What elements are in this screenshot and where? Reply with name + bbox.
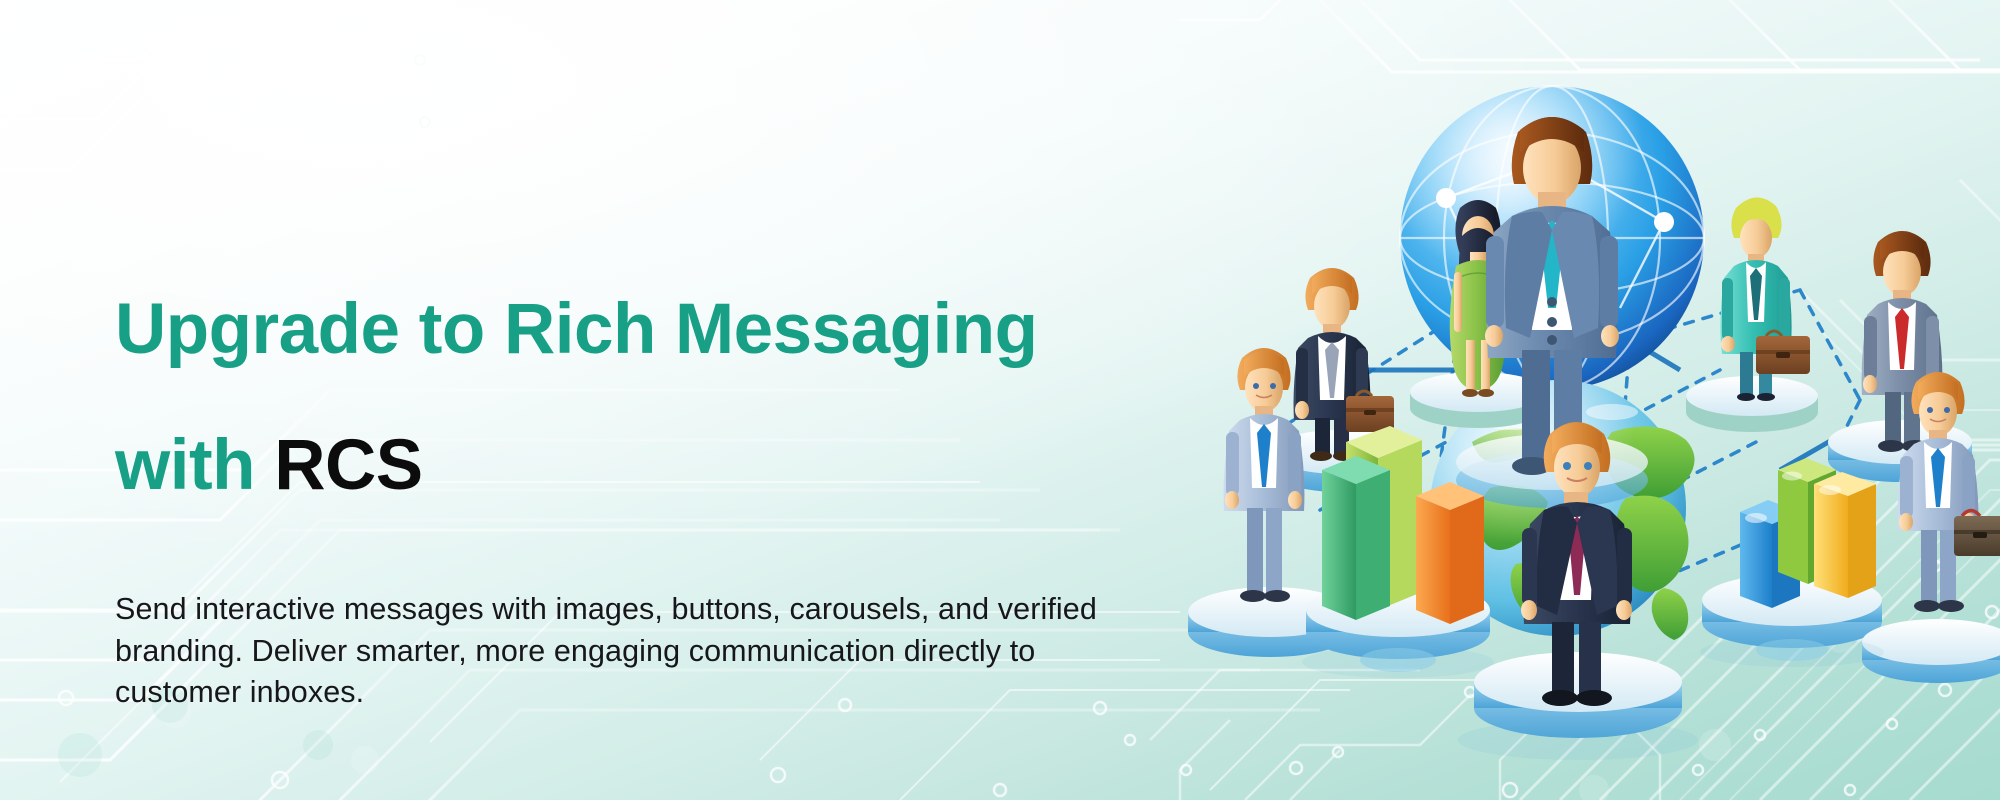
page-title: Upgrade to Rich Messaging with RCS (115, 228, 1145, 569)
briefcase-brown-left (1346, 391, 1394, 432)
bar-green (1322, 456, 1390, 620)
briefcase-brown (1756, 331, 1810, 374)
hero-copy: Upgrade to Rich Messaging with RCS Send … (115, 228, 1145, 714)
headline-line-2-prefix: with (115, 426, 274, 505)
bar-yellow (1814, 472, 1876, 598)
business-network-illustration (1160, 40, 2000, 780)
figure-woman-teal (1720, 197, 1810, 401)
figure-right-blue (1898, 372, 2000, 612)
bar-orange (1416, 482, 1484, 624)
headline-line-1: Upgrade to Rich Messaging (115, 296, 1145, 364)
figure-left-blue (1224, 348, 1305, 602)
briefcase-dark-right (1954, 511, 2000, 557)
headline-accent-rcs: RCS (274, 426, 422, 505)
headline-line-2: with RCS (115, 432, 1145, 500)
hero-description: Send interactive messages with images, b… (115, 589, 1115, 714)
hero-banner: Upgrade to Rich Messaging with RCS Send … (0, 0, 2000, 800)
